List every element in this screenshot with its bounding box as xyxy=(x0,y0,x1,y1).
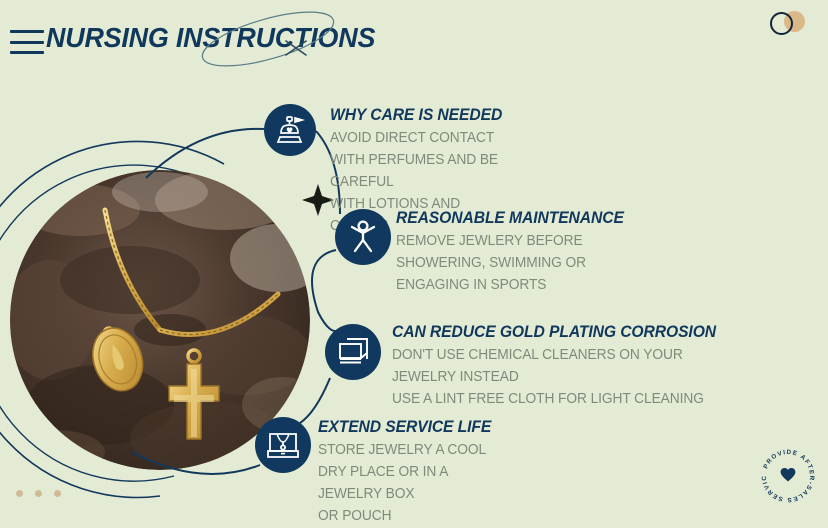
brand-logo-mark xyxy=(770,10,816,34)
block-body: REMOVE JEWLERY BEFORE SHOWERING, SWIMMIN… xyxy=(396,230,624,296)
hamburger-bar xyxy=(10,41,44,44)
pagination-dot[interactable] xyxy=(54,490,61,497)
folded-cloth-icon[interactable] xyxy=(325,324,381,380)
pagination-dots[interactable] xyxy=(16,490,61,497)
product-photo-group xyxy=(0,152,270,488)
slide-root: NURSING INSTRUCTIONS xyxy=(0,0,828,512)
block-body: STORE JEWELRY A COOL DRY PLACE OR IN A J… xyxy=(318,439,491,527)
pagination-dot[interactable] xyxy=(35,490,42,497)
hamburger-menu-icon[interactable] xyxy=(10,30,44,54)
jewelry-box-necklace-icon[interactable] xyxy=(255,417,311,473)
info-block-text: REASONABLE MAINTENANCE REMOVE JEWLERY BE… xyxy=(396,209,636,296)
perfume-bottle-heart-icon[interactable] xyxy=(264,104,316,156)
block-heading: EXTEND SERVICE LIFE xyxy=(318,418,491,436)
page-title: NURSING INSTRUCTIONS xyxy=(46,22,375,54)
block-heading: REASONABLE MAINTENANCE xyxy=(396,209,624,227)
heart-icon xyxy=(781,468,796,482)
block-heading: CAN REDUCE GOLD PLATING CORROSION xyxy=(392,323,716,341)
circle-outline-icon xyxy=(770,12,793,35)
block-body: DON'T USE CHEMICAL CLEANERS ON YOUR JEWE… xyxy=(392,344,716,410)
hamburger-bar xyxy=(10,51,44,54)
hamburger-bar xyxy=(10,30,44,33)
info-block-text: CAN REDUCE GOLD PLATING CORROSION DON'T … xyxy=(392,323,733,410)
person-exercising-icon[interactable] xyxy=(335,209,391,265)
after-sales-service-seal: PROVIDE AFTER-SALES SERVICE xyxy=(756,444,820,504)
pagination-dot[interactable] xyxy=(16,490,23,497)
info-block-text: EXTEND SERVICE LIFE STORE JEWELRY A COOL… xyxy=(318,418,500,527)
block-heading: WHY CARE IS NEEDED xyxy=(330,106,502,124)
